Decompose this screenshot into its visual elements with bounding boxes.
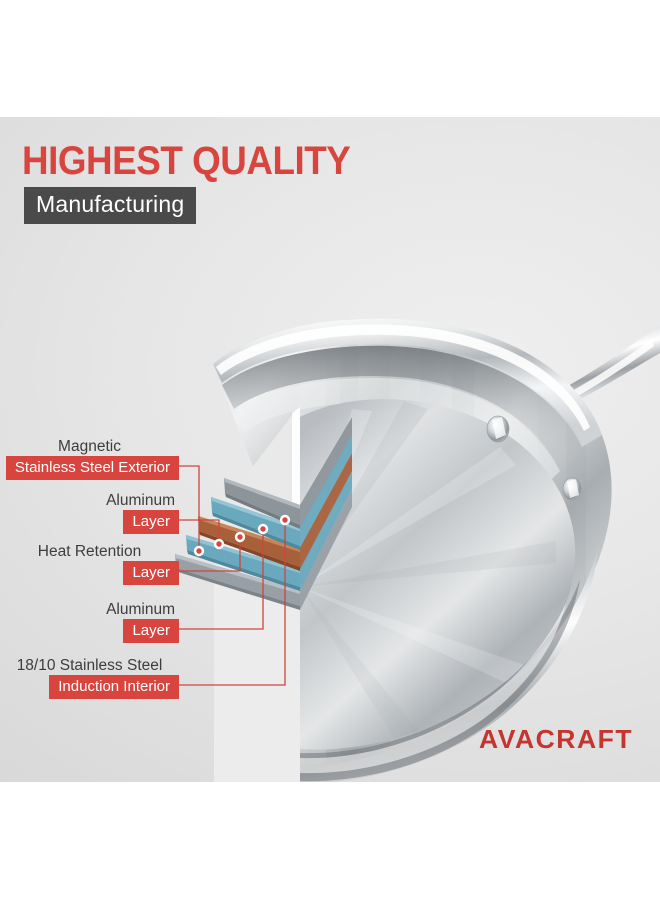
callout-badge: Stainless Steel Exterior — [6, 456, 179, 480]
callout-aluminum-layer-outer: Aluminum Layer — [0, 491, 179, 534]
brand-logo: AVACRAFT — [479, 724, 633, 755]
callout-badge: Layer — [123, 510, 179, 534]
callout-aluminum-layer-inner: Aluminum Layer — [0, 600, 179, 643]
callout-badge: Layer — [123, 619, 179, 643]
infographic-canvas: HIGHEST QUALITY Manufacturing Magnetic S… — [0, 0, 660, 900]
page-title: HIGHEST QUALITY — [22, 141, 350, 181]
callout-top-line: Heat Retention — [0, 542, 179, 561]
page-subtitle: Manufacturing — [24, 187, 196, 224]
callout-top-line: Aluminum — [0, 600, 179, 619]
leader-line-3 — [179, 537, 240, 571]
callout-top-line: 18/10 Stainless Steel — [0, 656, 179, 675]
callout-badge: Layer — [123, 561, 179, 585]
content-panel: HIGHEST QUALITY Manufacturing Magnetic S… — [0, 117, 660, 782]
callout-magnetic-stainless-steel-exterior: Magnetic Stainless Steel Exterior — [0, 437, 179, 480]
callout-top-line: Magnetic — [0, 437, 179, 456]
callout-top-line: Aluminum — [0, 491, 179, 510]
callout-18-10-stainless-steel-induction-interior: 18/10 Stainless Steel Induction Interior — [0, 656, 179, 699]
callout-dots — [194, 515, 290, 556]
callout-heat-retention-layer: Heat Retention Layer — [0, 542, 179, 585]
leader-line-5 — [179, 520, 285, 685]
leader-line-1 — [179, 466, 199, 551]
callout-badge: Induction Interior — [49, 675, 179, 699]
